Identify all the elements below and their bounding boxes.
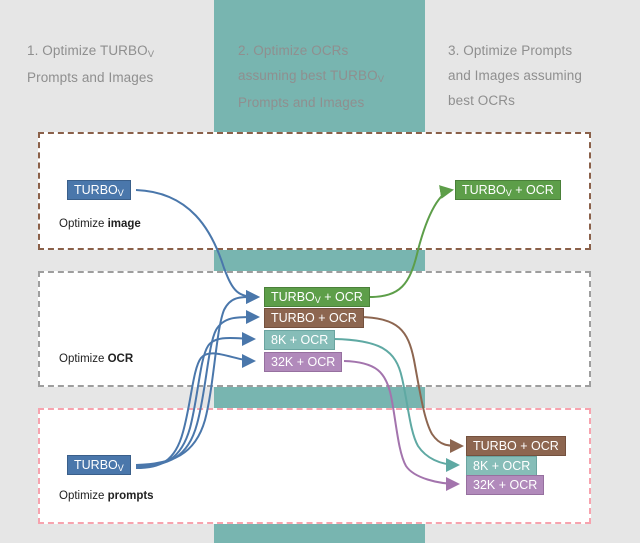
panel-optimize-ocr-label: Optimize OCR [59, 353, 133, 365]
node-row2-turbo-v-plus-ocr[interactable]: TURBOV + OCR [264, 287, 370, 307]
diagram-root: 1. Optimize TURBOV Prompts and Images 2.… [0, 0, 640, 543]
header-step-2-line2: assuming best TURBO [238, 68, 378, 83]
header-step-1: 1. Optimize TURBOV Prompts and Images [27, 38, 207, 90]
header-step-3: 3. Optimize Prompts and Images assuming … [448, 38, 633, 113]
header-step-1-line2: Prompts and Images [27, 70, 153, 85]
node-row2-0-label-a: TURBO [271, 290, 315, 304]
node-row1-turbo-v-plus-ocr[interactable]: TURBOV + OCR [455, 180, 561, 200]
panel-optimize-image-label: Optimize image [59, 218, 141, 230]
node-row2-1-label-a: TURBO + OCR [271, 311, 357, 325]
node-row3-turbo-plus-ocr[interactable]: TURBO + OCR [466, 436, 566, 456]
node-row1-target-label-a: TURBO [462, 183, 506, 197]
node-row2-turbo-plus-ocr[interactable]: TURBO + OCR [264, 308, 364, 328]
node-row3-8k-plus-ocr[interactable]: 8K + OCR [466, 456, 537, 476]
header-step-3-line3: best OCRs [448, 93, 515, 108]
node-row2-0-label-b: + OCR [321, 290, 363, 304]
node-row3-target-0-label: TURBO + OCR [473, 439, 559, 453]
panel-2-label-prefix: Optimize [59, 353, 108, 365]
node-row3-target-2-label: 32K + OCR [473, 478, 537, 492]
panel-1-label-prefix: Optimize [59, 218, 108, 230]
node-row1-turbo-v-subscript: V [118, 188, 124, 198]
panel-2-label-bold: OCR [108, 353, 134, 365]
node-row1-turbo-v-label: TURBO [74, 183, 118, 197]
node-row3-turbo-v-subscript: V [118, 463, 124, 473]
node-row1-target-subscript: V [506, 188, 512, 198]
node-row3-turbo-v-label: TURBO [74, 458, 118, 472]
header-step-2-line3: Prompts and Images [238, 95, 364, 110]
header-step-1-line1: 1. Optimize TURBO [27, 43, 148, 58]
node-row3-turbo-v[interactable]: TURBOV [67, 455, 131, 475]
node-row1-turbo-v[interactable]: TURBOV [67, 180, 131, 200]
panel-3-label-prefix: Optimize [59, 490, 108, 502]
node-row3-target-1-label: 8K + OCR [473, 459, 530, 473]
header-step-3-line2: and Images assuming [448, 68, 582, 83]
panel-1-label-bold: image [108, 218, 141, 230]
header-step-2-line1: 2. Optimize OCRs [238, 43, 348, 58]
panel-3-label-bold: prompts [108, 490, 154, 502]
header-step-2-subscript: V [378, 74, 384, 85]
node-row2-8k-plus-ocr[interactable]: 8K + OCR [264, 330, 335, 350]
header-step-2: 2. Optimize OCRs assuming best TURBOV Pr… [238, 38, 418, 115]
node-row2-0-subscript: V [315, 295, 321, 305]
panel-optimize-prompts-label: Optimize prompts [59, 490, 154, 502]
node-row3-32k-plus-ocr[interactable]: 32K + OCR [466, 475, 544, 495]
node-row2-2-label-a: 8K + OCR [271, 333, 328, 347]
header-step-3-line1: 3. Optimize Prompts [448, 43, 572, 58]
node-row1-target-label-b: + OCR [512, 183, 554, 197]
node-row2-3-label-a: 32K + OCR [271, 355, 335, 369]
header-step-1-subscript: V [148, 49, 154, 60]
node-row2-32k-plus-ocr[interactable]: 32K + OCR [264, 352, 342, 372]
